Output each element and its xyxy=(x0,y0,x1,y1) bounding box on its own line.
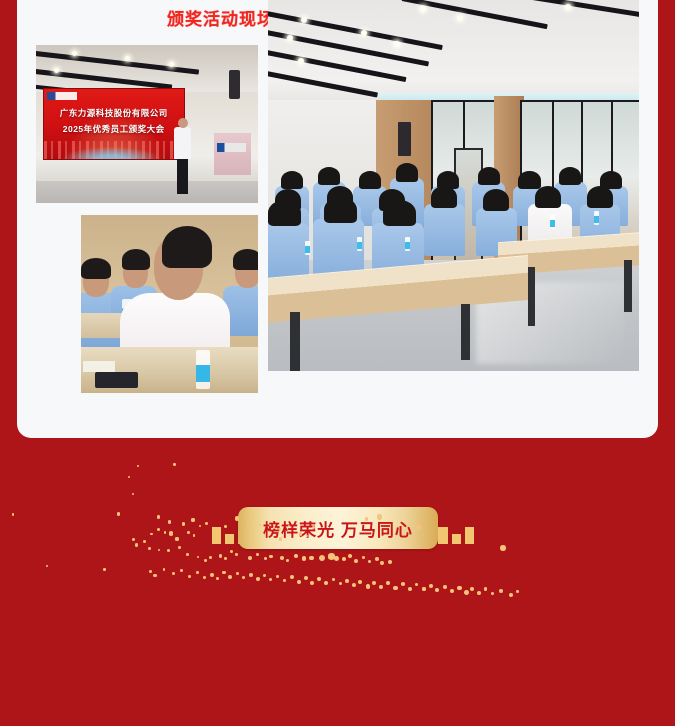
confetti-dot xyxy=(167,549,170,552)
ceiling-spotlight xyxy=(361,30,367,36)
confetti-dot xyxy=(388,560,392,564)
confetti-dot xyxy=(516,590,519,593)
confetti-dot xyxy=(450,589,454,593)
person-hair xyxy=(318,167,340,186)
confetti-dot xyxy=(269,555,272,558)
confetti-dot xyxy=(264,557,267,560)
confetti-dot xyxy=(280,556,284,560)
confetti-dot xyxy=(103,568,105,570)
confetti-dot xyxy=(375,557,379,561)
confetti-dot xyxy=(259,524,261,526)
confetti-dot xyxy=(365,517,368,521)
confetti-dot xyxy=(164,531,166,533)
ceiling-spotlight xyxy=(54,68,59,73)
confetti-dot xyxy=(12,513,14,515)
confetti-dot xyxy=(143,540,146,543)
confetti-dot xyxy=(203,576,206,579)
confetti-dot xyxy=(150,533,152,535)
confetti-dot xyxy=(362,556,365,559)
confetti-dot xyxy=(249,573,253,577)
confetti-dot xyxy=(415,583,418,586)
confetti-dot xyxy=(332,578,335,581)
confetti-dot xyxy=(158,549,160,551)
confetti-dot xyxy=(135,543,138,546)
confetti-dot xyxy=(191,518,194,521)
speaker-legs xyxy=(177,156,188,194)
confetti-dot xyxy=(224,557,227,560)
water-bottle xyxy=(357,237,362,251)
confetti-dot xyxy=(256,553,259,556)
ceiling-spotlight xyxy=(420,6,426,12)
confetti-dot xyxy=(182,522,185,526)
confetti-dot xyxy=(294,554,298,558)
confetti-dot xyxy=(334,556,339,561)
confetti-dot xyxy=(132,493,134,495)
water-bottle xyxy=(305,241,310,255)
person-hair xyxy=(122,249,150,270)
confetti-dot xyxy=(386,581,390,585)
confetti-dot xyxy=(310,581,314,585)
confetti-dot xyxy=(393,586,398,591)
confetti-dot xyxy=(457,586,462,591)
confetti-dot xyxy=(354,559,358,563)
confetti-dot xyxy=(235,516,239,521)
confetti-dot xyxy=(217,531,221,535)
confetti-dot xyxy=(509,593,513,597)
led-screen-line-2: 2025年优秀员工颁奖大会 xyxy=(44,123,184,135)
confetti-dot xyxy=(500,545,506,551)
confetti-dot xyxy=(178,546,181,549)
confetti-dot xyxy=(188,575,191,578)
confetti-dot xyxy=(157,515,160,518)
confetti-dot xyxy=(153,574,156,577)
skyline-graphic xyxy=(44,141,184,159)
confetti-dot xyxy=(484,587,487,590)
confetti-dot xyxy=(172,572,175,575)
confetti-dot xyxy=(248,556,252,560)
confetti-dot xyxy=(422,587,425,590)
wall-speaker xyxy=(398,122,411,155)
confetti-dot xyxy=(187,531,190,534)
confetti-dot xyxy=(429,584,433,588)
paper-sheet xyxy=(83,361,115,372)
ceiling-spotlight xyxy=(72,51,77,56)
confetti-dot xyxy=(273,526,275,528)
confetti-dot xyxy=(302,556,307,561)
stage-floor xyxy=(36,181,258,203)
confetti-dot xyxy=(401,582,405,586)
page-title: 颁奖活动现场 xyxy=(167,5,275,30)
confetti-dot xyxy=(216,577,219,580)
confetti-dot xyxy=(443,585,447,589)
confetti-dot xyxy=(372,581,376,585)
confetti-dot xyxy=(213,528,217,532)
confetti-dot xyxy=(197,556,199,558)
confetti-dot xyxy=(173,463,175,465)
photo-stage-led-screen[interactable]: 广东力源科技股份有限公司 2025年优秀员工颁奖大会 xyxy=(36,45,258,203)
person-hair xyxy=(324,197,357,223)
confetti-dot xyxy=(464,590,469,595)
water-bottle xyxy=(405,237,410,251)
person-hair xyxy=(431,186,457,208)
confetti-dot xyxy=(137,465,139,467)
confetti-dot xyxy=(306,535,308,537)
confetti-dot xyxy=(256,577,260,581)
confetti-dot xyxy=(157,528,160,531)
desk-leg xyxy=(290,312,299,371)
confetti-field xyxy=(0,440,675,726)
water-bottle xyxy=(594,211,599,225)
confetti-dot xyxy=(317,577,321,581)
speaker-head xyxy=(178,118,188,128)
confetti-dot xyxy=(278,528,280,530)
confetti-dot xyxy=(366,584,371,589)
person-hair xyxy=(483,189,509,211)
podium xyxy=(214,133,252,174)
confetti-dot xyxy=(319,555,325,561)
person-hair xyxy=(535,186,561,208)
ceiling-spotlight xyxy=(565,4,571,10)
desk-leg xyxy=(624,260,631,312)
content-card: 颁奖活动现场 广东力源科技股份有限公司 2025年优秀员工颁奖大会 xyxy=(17,0,658,438)
speaker-body xyxy=(174,127,192,159)
person-hair xyxy=(396,163,418,182)
confetti-dot xyxy=(222,571,225,574)
confetti-dot xyxy=(46,565,48,567)
confetti-dot xyxy=(186,553,189,556)
confetti-dot xyxy=(339,582,342,585)
ceiling-spotlight xyxy=(125,56,130,61)
confetti-dot xyxy=(196,571,199,574)
confetti-dot xyxy=(283,579,286,582)
confetti-dot xyxy=(247,521,249,523)
confetti-dot xyxy=(309,556,314,561)
confetti-dot xyxy=(379,585,383,589)
confetti-dot xyxy=(368,560,371,563)
confetti-dot xyxy=(117,512,120,516)
confetti-dot xyxy=(491,592,494,595)
photo-audience-closeup[interactable] xyxy=(81,215,258,393)
confetti-dot xyxy=(324,581,328,585)
confetti-dot xyxy=(205,522,208,525)
desk-leg xyxy=(528,267,535,326)
confetti-dot xyxy=(312,526,315,529)
confetti-dot xyxy=(345,579,349,583)
person-hair xyxy=(559,167,581,186)
person-body xyxy=(424,204,465,256)
confetti-dot xyxy=(276,575,279,578)
confetti-dot xyxy=(290,575,294,579)
confetti-dot xyxy=(236,572,239,575)
person-hair xyxy=(383,200,416,226)
confetti-dot xyxy=(230,550,233,553)
person-hair xyxy=(281,171,303,190)
confetti-dot xyxy=(235,553,238,556)
person-hair xyxy=(81,258,111,279)
confetti-dot xyxy=(210,573,214,577)
confetti-dot xyxy=(175,537,178,541)
desk-leg xyxy=(461,304,470,360)
photo-conference-hall[interactable] xyxy=(268,0,639,371)
confetti-dot xyxy=(352,583,356,587)
person-hair xyxy=(587,186,613,208)
confetti-dot xyxy=(148,547,151,550)
confetti-dot xyxy=(128,476,130,478)
confetti-dot xyxy=(209,556,212,559)
confetti-dot xyxy=(269,578,272,581)
tablet-device xyxy=(95,372,137,388)
company-logo-icon xyxy=(47,92,77,100)
ceiling-spotlight xyxy=(287,35,293,41)
confetti-dot xyxy=(358,580,362,584)
confetti-dot xyxy=(342,557,346,561)
ceiling-spotlight xyxy=(298,58,304,64)
person-hair xyxy=(518,171,540,190)
confetti-dot xyxy=(297,580,301,584)
confetti-dot xyxy=(242,576,245,579)
confetti-dot xyxy=(299,532,302,536)
confetti-dot xyxy=(149,570,152,573)
led-screen-line-1: 广东力源科技股份有限公司 xyxy=(44,107,184,119)
confetti-dot xyxy=(132,538,135,541)
confetti-dot xyxy=(408,587,412,591)
podium-logo-icon xyxy=(217,143,246,152)
confetti-dot xyxy=(377,514,382,520)
confetti-dot xyxy=(169,531,173,536)
confetti-dot xyxy=(286,559,289,562)
confetti-dot xyxy=(470,587,474,591)
water-bottle xyxy=(196,350,210,389)
confetti-dot xyxy=(499,589,503,593)
person-hair xyxy=(268,200,301,226)
confetti-dot xyxy=(477,591,481,595)
confetti-dot xyxy=(263,574,266,577)
water-bottle xyxy=(550,215,555,229)
confetti-dot xyxy=(219,554,222,558)
confetti-dot xyxy=(380,561,384,565)
confetti-dot xyxy=(180,569,183,572)
person-body xyxy=(268,223,309,282)
confetti-dot xyxy=(304,576,308,580)
ceiling-spotlight xyxy=(394,41,400,47)
person-hair xyxy=(233,249,258,270)
confetti-dot xyxy=(288,525,290,527)
confetti-dot xyxy=(168,520,171,524)
ceiling-spotlight xyxy=(457,15,463,21)
confetti-dot xyxy=(435,588,439,592)
confetti-dot xyxy=(224,525,227,528)
confetti-dot xyxy=(199,525,201,527)
confetti-dot xyxy=(228,575,232,579)
wall-speaker xyxy=(229,70,240,98)
person-hair xyxy=(359,171,381,190)
confetti-dot xyxy=(204,559,207,562)
confetti-dot xyxy=(416,525,421,530)
confetti-dot xyxy=(163,568,165,570)
person-hair xyxy=(478,167,500,186)
confetti-dot xyxy=(348,554,352,558)
led-screen: 广东力源科技股份有限公司 2025年优秀员工颁奖大会 xyxy=(43,88,185,161)
confetti-dot xyxy=(193,534,195,536)
confetti-dot xyxy=(279,537,282,540)
foreground-person-hair xyxy=(162,226,212,269)
